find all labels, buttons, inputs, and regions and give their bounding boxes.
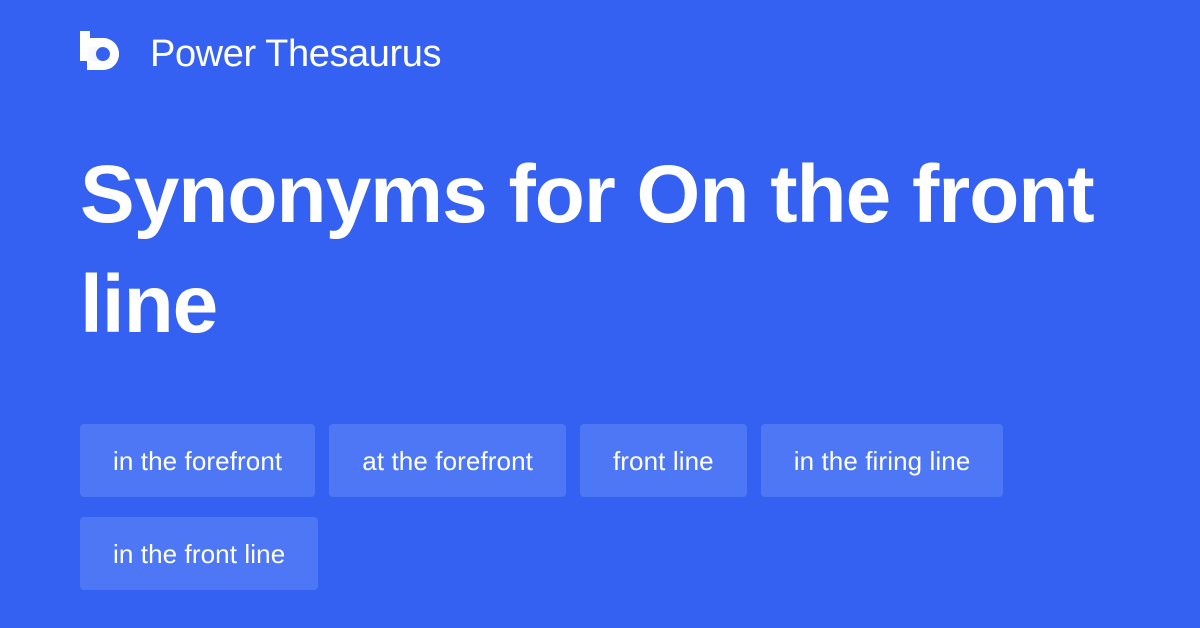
synonym-chip[interactable]: in the firing line (761, 424, 1004, 497)
brand-name: Power Thesaurus (150, 35, 441, 73)
page-title: Synonyms for On the front line (80, 140, 1140, 360)
brand-header[interactable]: Power Thesaurus (80, 28, 441, 80)
synonym-chip[interactable]: at the forefront (329, 424, 566, 497)
synonym-chip[interactable]: in the forefront (80, 424, 315, 497)
synonym-chip[interactable]: front line (580, 424, 747, 497)
power-thesaurus-b-logo-icon (80, 31, 126, 77)
synonym-chip-list: in the forefront at the forefront front … (80, 424, 1130, 590)
synonym-chip[interactable]: in the front line (80, 517, 318, 590)
share-card: Power Thesaurus Synonyms for On the fron… (0, 0, 1200, 628)
